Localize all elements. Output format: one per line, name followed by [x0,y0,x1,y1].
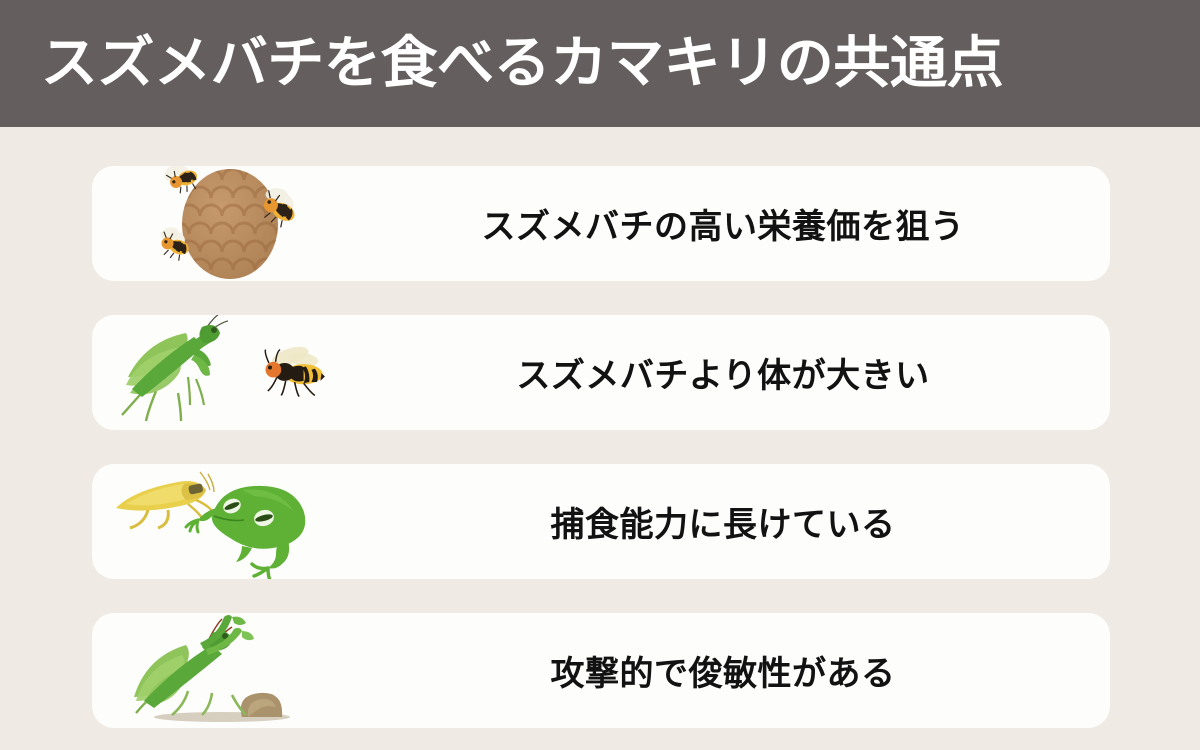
mantis-on-rock-icon [92,613,422,728]
list-item[interactable]: 捕食能力に長けている [92,464,1110,579]
infographic-root: スズメバチを食べるカマキリの共通点 [0,0,1200,750]
list-item[interactable]: スズメバチより体が大きい [92,315,1110,430]
list-item[interactable]: スズメバチの高い栄養価を狙う [92,166,1110,281]
page-title: スズメバチを食べるカマキリの共通点 [0,34,1003,93]
list-item-label: スズメバチの高い栄養価を狙う [422,199,1110,248]
list-item-label: スズメバチより体が大きい [422,348,1110,397]
list-item[interactable]: 攻撃的で俊敏性がある [92,613,1110,728]
list-item-label: 攻撃的で俊敏性がある [422,646,1110,695]
header-bar: スズメバチを食べるカマキリの共通点 [0,0,1200,127]
mantis-facing-hornet-icon [92,315,422,430]
card-list: スズメバチの高い栄養価を狙う [92,166,1110,728]
frog-eating-grasshopper-icon [92,464,422,579]
hornet-nest-with-bees-icon [92,166,422,281]
list-item-label: 捕食能力に長けている [422,497,1110,546]
